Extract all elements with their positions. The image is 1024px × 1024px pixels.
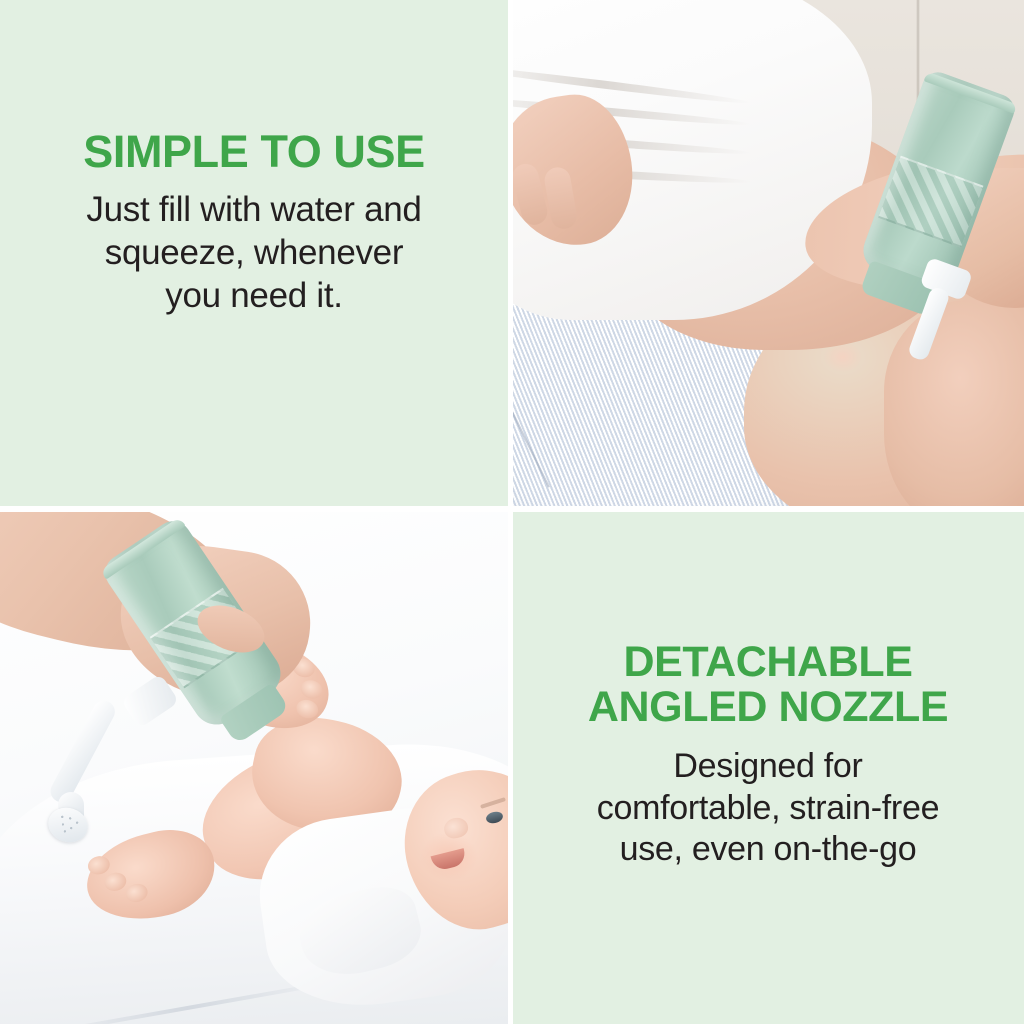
baby-toe <box>124 882 150 905</box>
detachable-angled-nozzle <box>40 684 200 854</box>
nozzle-tube <box>47 697 119 806</box>
baby-toe <box>298 677 324 701</box>
heading-simple-to-use: SIMPLE TO USE <box>83 128 425 175</box>
vertical-divider <box>508 0 513 1024</box>
text-block-bottom-right: DETACHABLE ANGLED NOZZLE Designed for co… <box>512 640 1024 871</box>
photo-woman-on-toilet <box>512 0 1024 506</box>
baby-toe <box>294 697 320 721</box>
horizontal-divider <box>0 506 1024 512</box>
panel-detachable-angled-nozzle: DETACHABLE ANGLED NOZZLE Designed for co… <box>512 512 1024 1024</box>
infographic-board: SIMPLE TO USE Just fill with water and s… <box>0 0 1024 1024</box>
body-simple-to-use: Just fill with water and squeeze, whenev… <box>86 189 421 317</box>
heading-detachable-angled-nozzle: DETACHABLE ANGLED NOZZLE <box>588 640 948 730</box>
finger <box>543 165 579 231</box>
body-detachable-angled-nozzle: Designed for comfortable, strain-free us… <box>597 746 939 870</box>
panel-simple-to-use: SIMPLE TO USE Just fill with water and s… <box>0 0 508 506</box>
mat-fold <box>39 980 335 1024</box>
photo-baby-changing <box>0 512 508 1024</box>
shorts-seam <box>512 298 550 488</box>
baby-toe <box>102 870 128 893</box>
text-block-top-left: SIMPLE TO USE Just fill with water and s… <box>0 128 508 317</box>
